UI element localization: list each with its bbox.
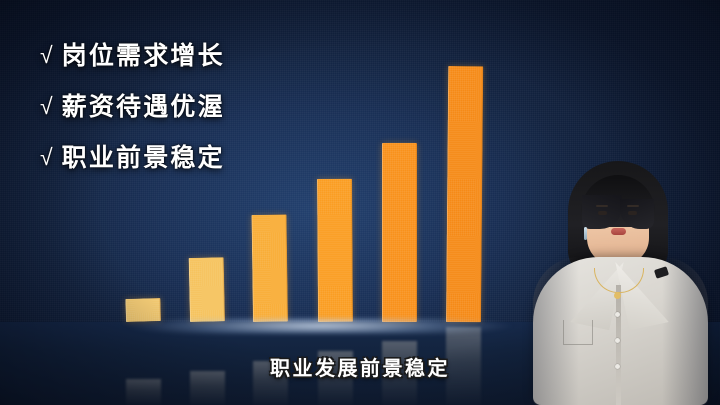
presenter-shirt-button (615, 364, 620, 369)
presenter-shirt-button (615, 338, 620, 343)
presenter-eye-right (628, 211, 637, 215)
presenter-shirt-placket (616, 285, 621, 405)
presenter-mouth (611, 228, 626, 235)
presenter-pendant (614, 292, 621, 299)
video-slide: √ 岗位需求增长 √ 薪资待遇优渥 √ 职业前景稳定 职业发展前景稳定 (0, 0, 720, 405)
check-icon: √ (40, 95, 53, 118)
presenter-eye-left (598, 211, 607, 215)
bullet-label-2: 薪资待遇优渥 (62, 95, 225, 120)
presenter-eyebrow-left (596, 205, 608, 207)
presenter-figure (515, 115, 720, 405)
bullet-item-1: √ 岗位需求增长 (40, 44, 225, 69)
bullet-label-1: 岗位需求增长 (62, 44, 225, 69)
presenter-earring (584, 227, 587, 240)
bullet-list: √ 岗位需求增长 √ 薪资待遇优渥 √ 职业前景稳定 (40, 44, 225, 171)
bullet-item-2: √ 薪资待遇优渥 (40, 95, 225, 120)
presenter-shirt-button (615, 312, 620, 317)
bullet-label-3: 职业前景稳定 (62, 146, 225, 171)
presenter-eyebrow-right (627, 205, 639, 207)
bullet-item-3: √ 职业前景稳定 (40, 146, 225, 171)
presenter-shirt-pocket (563, 320, 593, 345)
presenter-shirt-shadow-right (662, 257, 708, 405)
check-icon: √ (40, 146, 53, 169)
check-icon: √ (40, 44, 53, 67)
